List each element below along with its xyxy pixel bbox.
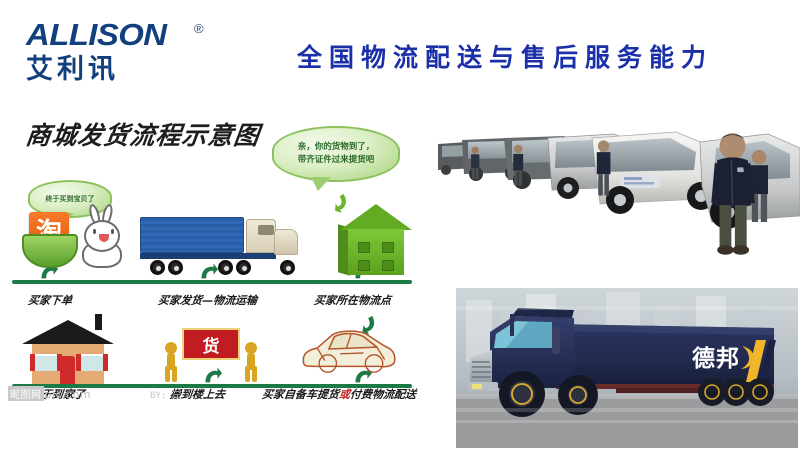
step-label-order: 买家下单 [27,292,73,308]
deppon-truck-photo: 德邦 [456,288,798,448]
house-roof [22,320,114,344]
mover-leg [165,366,170,382]
rabbit-eye-right [111,229,114,234]
house-window [382,260,394,271]
arrival-speech-line1: 亲，你的货物到了， [298,142,375,152]
truck-trailer [140,217,244,253]
truck-wheel [280,260,295,275]
arrival-speech-line2: 带齐证件过来提货吧 [298,155,375,165]
house-window [358,242,370,253]
watermark-domain-text: pic.com [45,388,92,401]
watermark-cn-text: 昵图网 [8,386,44,401]
label-part-plain-1: 买家自备车提货 [261,388,339,401]
movers-icon: 货 [158,318,264,384]
page-title: 全国物流配送与售后服务能力 [240,38,770,74]
logo-latin-text: ALLISON [26,18,217,52]
house-window [80,354,104,371]
truck-wheel [150,260,165,275]
buyer-speech-text: 终于买到宝贝了 [46,194,95,204]
mover-figure-right [240,342,262,382]
house-window [382,242,394,253]
house-roof [340,204,412,230]
logo-chinese-text: 艾利讯 [26,54,206,86]
step-label-transport: 买家发货—物流运输 [157,292,258,308]
watermark-secondary: BY: 三 [150,388,181,401]
sketch-car-icon [296,320,402,380]
company-logo: ALLISON ® 艾利讯 [26,18,206,90]
bubble-tail-icon [311,177,331,191]
house-window [34,354,58,371]
truck-window [258,225,274,235]
registered-trademark-icon: ® [194,21,204,36]
diagram-title: 商城发货流程示意图 [24,116,262,152]
semi-truck-icon [140,213,302,275]
green-house-icon [338,204,414,276]
truck-wheel [218,260,233,275]
watermark-primary: 昵图网pic.com [8,386,91,401]
window-shutter [30,354,35,371]
mover-leg [172,366,177,382]
svg-text:德邦: 德邦 [692,345,740,372]
service-fleet-photo [424,112,800,268]
label-part-plain-2: 付费物流配送 [349,388,416,401]
mover-leg [245,366,250,382]
slide-root: ALLISON ® 艾利讯 全国物流配送与售后服务能力 商城发货流程示意图 [0,0,800,450]
window-shutter [103,354,108,371]
truck-wheel [236,260,251,275]
window-shutter [76,354,81,371]
house-door [60,356,75,384]
mover-figure-left [160,342,182,382]
home-icon [22,314,114,386]
arrival-speech-text: 亲，你的货物到了， 带齐证件过来提货吧 [298,141,375,167]
step-label-pickup-or-delivery: 买家自备车提货或付费物流配送 [261,386,417,402]
truck-hood [274,229,298,255]
step-label-depot: 买家所在物流点 [313,292,392,308]
basket-bowl-shape [22,234,78,268]
mover-leg [252,366,257,382]
arrival-speech-bubble: 亲，你的货物到了， 带齐证件过来提货吧 [272,126,400,182]
house-window [358,260,370,271]
house-front-wall [348,229,404,275]
rabbit-mascot-icon [74,204,132,270]
rabbit-eye-left [93,229,96,234]
cargo-crate: 货 [182,328,240,360]
truck-wheel [168,260,183,275]
truck-chassis [140,253,276,259]
shopping-basket-icon: 淘 [20,206,80,268]
shipping-flow-diagram: 商城发货流程示意图 [0,108,430,428]
